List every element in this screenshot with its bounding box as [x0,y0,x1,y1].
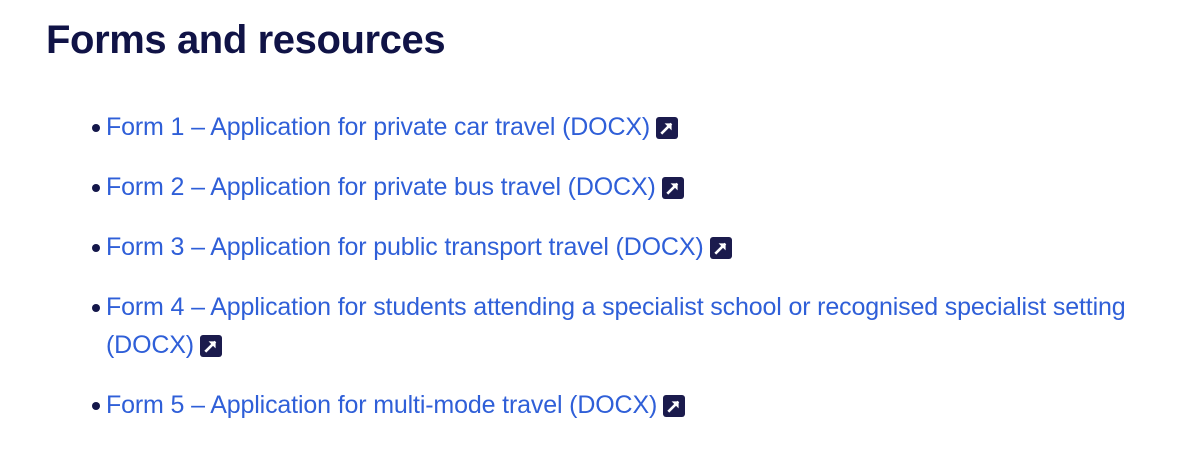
forms-and-resources-list: Form 1 – Application for private car tra… [64,108,1180,424]
bullet-icon [92,402,100,410]
list-item: Form 4 – Application for students attend… [64,288,1180,364]
form-link-1-wrapper: Form 1 – Application for private car tra… [106,113,678,141]
form-link-2-wrapper: Form 2 – Application for private bus tra… [106,173,684,201]
form-link-4-wrapper: Form 4 – Application for students attend… [106,293,1126,359]
form-link-3[interactable]: Form 3 – Application for public transpor… [106,233,704,261]
bullet-icon [92,124,100,132]
bullet-icon [92,244,100,252]
bullet-icon [92,184,100,192]
list-item: Form 1 – Application for private car tra… [64,108,1180,146]
form-link-2[interactable]: Form 2 – Application for private bus tra… [106,173,656,201]
bullet-icon [92,304,100,312]
page-title: Forms and resources [46,16,445,64]
form-link-4[interactable]: Form 4 – Application for students attend… [106,293,1126,359]
list-item: Form 2 – Application for private bus tra… [64,168,1180,206]
form-link-5-wrapper: Form 5 – Application for multi-mode trav… [106,391,685,419]
external-link-icon[interactable] [662,177,684,199]
external-link-icon[interactable] [200,335,222,357]
external-link-icon[interactable] [656,117,678,139]
external-link-icon[interactable] [663,395,685,417]
forms-and-resources-page: Forms and resources Form 1 – Application… [0,0,1200,461]
list-item: Form 3 – Application for public transpor… [64,228,1180,266]
list-item: Form 5 – Application for multi-mode trav… [64,386,1180,424]
form-link-5[interactable]: Form 5 – Application for multi-mode trav… [106,391,657,419]
form-link-3-wrapper: Form 3 – Application for public transpor… [106,233,732,261]
form-link-1[interactable]: Form 1 – Application for private car tra… [106,113,650,141]
external-link-icon[interactable] [710,237,732,259]
